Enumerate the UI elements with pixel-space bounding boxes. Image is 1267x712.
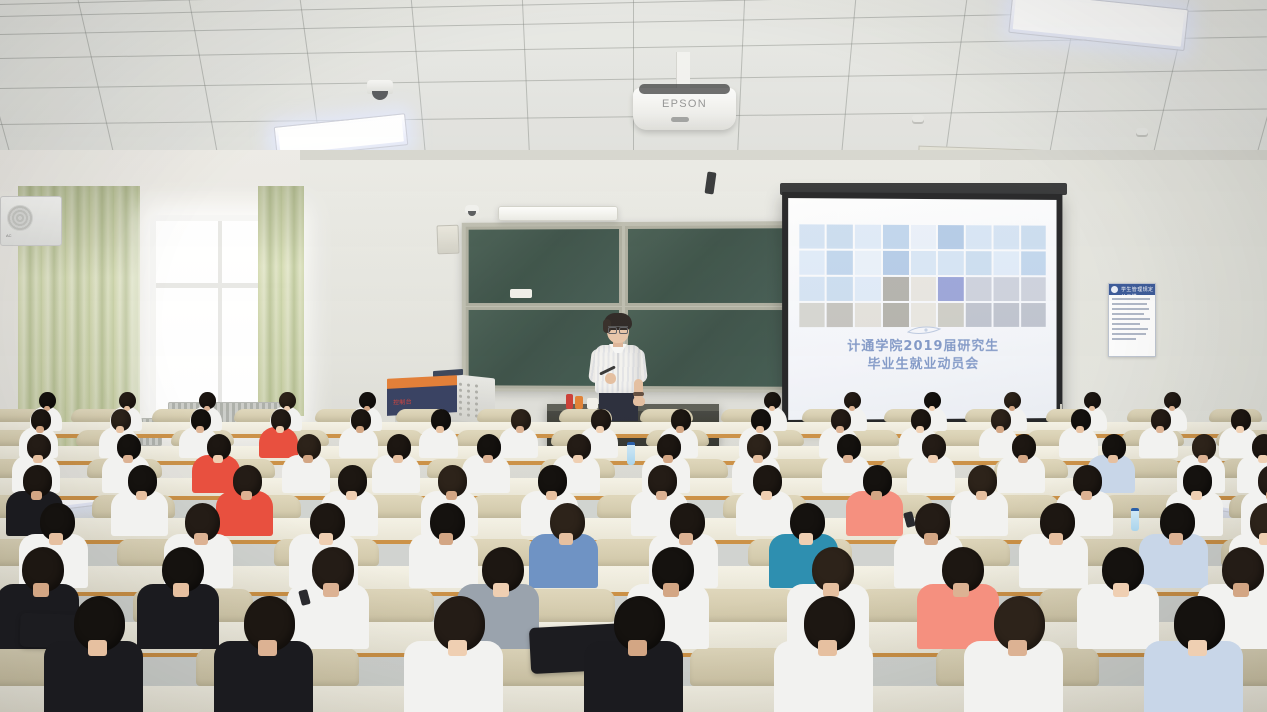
audience-neck — [213, 455, 222, 463]
water-bottle — [1131, 508, 1139, 531]
audience-neck — [1108, 455, 1117, 463]
slide-title: 计通学院2019届研究生 毕业生就业动员会 — [788, 337, 1056, 375]
mosaic-tile — [911, 277, 937, 301]
audience-neck — [116, 426, 124, 433]
audience-seating-area — [0, 400, 1267, 712]
audience-neck — [756, 426, 764, 433]
ceiling-dome-camera-icon — [367, 80, 393, 94]
audience-neck — [319, 533, 332, 544]
audience-neck — [516, 426, 524, 433]
audience-neck — [88, 640, 107, 656]
mosaic-tile — [855, 225, 881, 249]
mosaic-tile — [855, 277, 881, 301]
mosaic-tile — [799, 277, 825, 301]
audience-neck — [276, 426, 284, 433]
audience-neck — [823, 583, 839, 597]
notice-header: 学生管理规定公示栏 — [1109, 284, 1155, 295]
audience-neck — [1259, 533, 1267, 544]
audience-neck — [36, 426, 44, 433]
water-bottle — [627, 442, 635, 465]
presentation-slide: 计通学院2019届研究生 毕业生就业动员会 — [788, 198, 1056, 420]
audience-neck — [436, 426, 444, 433]
audience-neck — [123, 455, 132, 463]
audience-neck — [976, 491, 987, 500]
audience-neck — [1081, 491, 1092, 500]
audience-neck — [196, 426, 204, 433]
audience-neck — [546, 491, 557, 500]
audience-neck — [769, 406, 775, 411]
projection-screen: 计通学院2019届研究生 毕业生就业动员会 — [782, 192, 1062, 426]
audience-neck — [241, 491, 252, 500]
audience-neck — [836, 426, 844, 433]
mosaic-tile — [827, 251, 853, 275]
mosaic-tile — [993, 277, 1018, 301]
audience-neck — [483, 455, 492, 463]
mosaic-tile — [1021, 303, 1046, 327]
audience-neck — [448, 640, 467, 656]
console-button[interactable] — [459, 383, 462, 386]
mosaic-tile — [827, 225, 853, 249]
audience-neck — [929, 406, 935, 411]
mosaic-tile — [1021, 226, 1046, 250]
notice-body — [1112, 298, 1152, 353]
slide-photo-mosaic — [799, 225, 1046, 327]
audience-neck — [1156, 426, 1164, 433]
audience-neck — [33, 583, 49, 597]
mosaic-tile — [938, 277, 964, 301]
audience-neck — [656, 491, 667, 500]
mosaic-tile — [883, 303, 909, 327]
mosaic-tile — [799, 225, 825, 249]
blackboard-lamp — [498, 206, 618, 221]
console-button[interactable] — [467, 395, 470, 398]
notice-text-line — [1112, 313, 1144, 315]
audience-neck — [1258, 455, 1267, 463]
audience-neck — [871, 491, 882, 500]
curtain-right — [258, 186, 304, 416]
audience-neck — [818, 640, 837, 656]
notice-text-line — [1112, 318, 1150, 320]
wall-cornice — [300, 150, 1267, 160]
audience-neck — [1009, 406, 1015, 411]
audience-neck — [676, 426, 684, 433]
mosaic-tile — [911, 251, 937, 275]
audience-neck — [663, 455, 672, 463]
audience-neck — [573, 455, 582, 463]
audience-neck — [596, 426, 604, 433]
audience-neck — [628, 640, 647, 656]
audience-neck — [173, 583, 189, 597]
audience-neck — [33, 455, 42, 463]
notice-emblem-icon — [1111, 286, 1118, 293]
mosaic-tile — [938, 303, 964, 327]
mosaic-tile — [827, 277, 853, 301]
audience-neck — [1188, 640, 1207, 656]
audience-neck — [996, 426, 1004, 433]
audience-neck — [924, 533, 937, 544]
audience-neck — [303, 455, 312, 463]
mosaic-tile — [938, 225, 964, 249]
projector-brand-label: EPSON — [633, 98, 736, 110]
presenter-glasses — [608, 326, 628, 332]
mosaic-tile — [993, 303, 1018, 327]
projector: EPSON — [633, 88, 736, 130]
presenter-shirt-placket — [617, 349, 619, 391]
audience-neck — [1076, 426, 1084, 433]
notice-text-line — [1112, 323, 1140, 325]
audience-neck — [953, 583, 969, 597]
slide-title-line-2: 毕业生就业动员会 — [788, 356, 1056, 376]
notice-text-line — [1112, 298, 1150, 300]
console-button[interactable] — [459, 395, 462, 398]
presenter-watch — [633, 392, 644, 396]
audience-neck — [1018, 455, 1027, 463]
console-button[interactable] — [467, 389, 470, 392]
notice-text-line — [1112, 303, 1147, 305]
mosaic-tile — [966, 303, 991, 327]
audience-neck — [916, 426, 924, 433]
smoke-detector-icon — [912, 115, 924, 122]
audience-neck — [928, 455, 937, 463]
audience-neck — [761, 491, 772, 500]
audience-neck — [843, 455, 852, 463]
notice-text-line — [1112, 308, 1149, 310]
audience-neck — [1113, 583, 1129, 597]
audience-neck — [849, 406, 855, 411]
audience-neck — [446, 491, 457, 500]
mosaic-tile — [855, 303, 881, 327]
audience-neck — [663, 583, 679, 597]
audience-neck — [439, 533, 452, 544]
presenter-hand-left — [605, 373, 616, 384]
audience-neck — [356, 426, 364, 433]
audience-neck — [346, 491, 357, 500]
projector-shroud — [639, 84, 730, 94]
mosaic-tile — [883, 225, 909, 249]
audience-neck — [323, 583, 339, 597]
mosaic-tile — [911, 303, 937, 327]
wall-air-conditioner: AC — [0, 196, 62, 246]
console-button[interactable] — [475, 390, 478, 393]
console-button[interactable] — [467, 383, 470, 386]
audience-neck — [1169, 406, 1175, 411]
audience-neck — [1233, 583, 1249, 597]
mosaic-tile — [1021, 277, 1046, 301]
notice-text-line — [1112, 333, 1146, 335]
lecture-hall-photo: AC 计通学院2019届研究生 毕业生就业动员会 学生管理规定公示栏 — [0, 0, 1267, 712]
mosaic-tile — [938, 251, 964, 275]
audience-neck — [1008, 640, 1027, 656]
console-button[interactable] — [475, 384, 478, 387]
mosaic-tile — [966, 277, 991, 301]
wall-speaker — [437, 225, 460, 255]
mosaic-tile — [827, 303, 853, 327]
notice-text-line — [1112, 338, 1136, 340]
audience-neck — [1236, 426, 1244, 433]
wall-notice-board: 学生管理规定公示栏 — [1108, 283, 1156, 357]
mosaic-tile — [883, 251, 909, 275]
presenter — [589, 313, 647, 413]
slide-swoosh-icon — [906, 324, 942, 336]
audience-neck — [393, 455, 402, 463]
audience-neck — [194, 533, 207, 544]
audience-neck — [1169, 533, 1182, 544]
audience-neck — [799, 533, 812, 544]
mosaic-tile — [993, 251, 1018, 275]
smoke-detector-icon — [1136, 128, 1148, 135]
audience-neck — [679, 533, 692, 544]
audience-neck — [1049, 533, 1062, 544]
slide-title-line-1: 计通学院2019届研究生 — [788, 337, 1056, 356]
notice-text-line — [1112, 328, 1148, 330]
chalk-eraser — [510, 289, 532, 298]
audience-neck — [31, 491, 42, 500]
projector-lens — [671, 117, 689, 122]
mosaic-tile — [966, 251, 991, 275]
audience-neck — [136, 491, 147, 500]
mosaic-tile — [911, 225, 937, 249]
audience-neck — [1089, 406, 1095, 411]
audience-neck — [1191, 491, 1202, 500]
audience-neck — [1198, 455, 1207, 463]
audience-neck — [49, 533, 62, 544]
mosaic-tile — [855, 251, 881, 275]
mosaic-tile — [883, 277, 909, 301]
audience-neck — [258, 640, 277, 656]
audience-neck — [753, 455, 762, 463]
mosaic-tile — [1021, 252, 1046, 276]
audience-neck — [559, 533, 572, 544]
security-camera-icon — [465, 205, 479, 213]
mosaic-tile — [993, 226, 1018, 250]
mosaic-tile — [966, 226, 991, 250]
console-button[interactable] — [459, 389, 462, 392]
mosaic-tile — [799, 303, 825, 327]
audience-neck — [493, 583, 509, 597]
mosaic-tile — [799, 251, 825, 275]
